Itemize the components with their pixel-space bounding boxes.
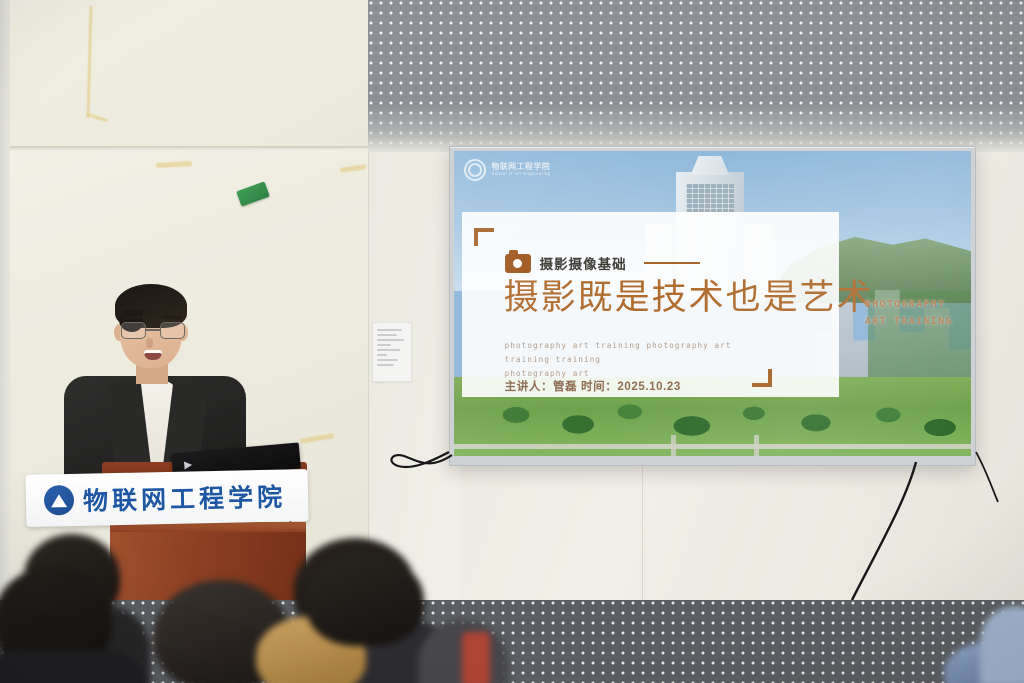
concentric-circle-logo-icon [464, 159, 486, 181]
eyeglass-bridge [146, 329, 160, 331]
slide-kicker: 摄影摄像基础 [505, 253, 700, 273]
slide-subtitle-line1: photography art training photography art… [505, 339, 774, 367]
slide-presenter-meta: 主讲人：管磊 时间：2025.10.23 [505, 378, 681, 394]
presentation-slide: 物联网工程学院 School of IoT Engineering 摄影摄像基础… [454, 151, 971, 456]
slide-logo-en: School of IoT Engineering [491, 172, 550, 177]
slide-logo: 物联网工程学院 School of IoT Engineering [464, 159, 550, 181]
wall-seam [642, 460, 643, 600]
slide-side-text: PHOTOGRAPHY ART TRAINING [865, 297, 953, 330]
camera-icon [505, 254, 531, 273]
slide-subtitle-english: photography art training photography art… [505, 339, 774, 381]
eyeglass-lens-left [121, 322, 146, 339]
slide-side-text-line2: ART TRAINING [865, 314, 953, 331]
presenter-nose [146, 338, 153, 348]
slide-side-text-line1: PHOTOGRAPHY [865, 297, 953, 314]
eyeglass-lens-right [160, 322, 185, 339]
eyeglasses-icon [120, 322, 186, 339]
slide-headline: 摄影既是技术也是艺术 [504, 281, 874, 316]
podium-sign: 物联网工程学院 [25, 469, 308, 527]
slide-corner-bracket-top-left [474, 228, 494, 246]
laptop-logo-icon [184, 461, 193, 470]
slide-kicker-label: 摄影摄像基础 [540, 253, 627, 273]
slide-building-facade [686, 184, 734, 212]
slide-kicker-rule [644, 262, 700, 264]
camera-lens-icon [513, 259, 522, 268]
wall-notice-paper [372, 322, 412, 382]
podium-sign-label: 物联网工程学院 [83, 478, 287, 518]
panel-light-falloff [368, 104, 1024, 152]
wall-mounted-display[interactable]: 物联网工程学院 School of IoT Engineering 摄影摄像基础… [449, 146, 976, 466]
perforated-acoustic-panel-bottom-right [430, 600, 1024, 683]
whiteboard-upper-panel [10, 0, 368, 148]
lecture-hall-scene: 物联网工程学院 School of IoT Engineering 摄影摄像基础… [0, 0, 1024, 683]
triangle-in-circle-logo-icon [44, 485, 75, 516]
